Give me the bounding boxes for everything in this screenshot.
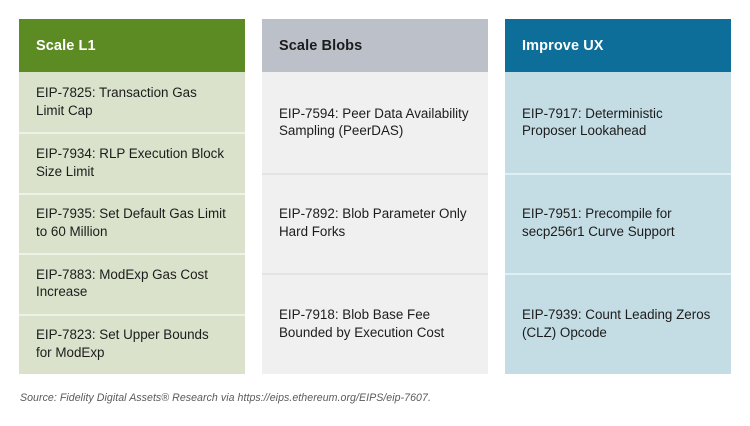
column-scale-blobs: Scale Blobs EIP-7594: Peer Data Availabi… [262, 19, 488, 374]
column-header-scale-blobs: Scale Blobs [262, 19, 488, 72]
eip-card: EIP-7594: Peer Data Availability Samplin… [262, 72, 488, 173]
eip-card: EIP-7935: Set Default Gas Limit to 60 Mi… [19, 193, 245, 253]
eip-card: EIP-7892: Blob Parameter Only Hard Forks [262, 173, 488, 274]
eip-card-label: EIP-7883: ModExp Gas Cost Increase [36, 266, 228, 302]
column-title: Scale Blobs [279, 38, 362, 54]
eip-card-label: EIP-7917: Deterministic Proposer Lookahe… [522, 105, 714, 141]
eip-card-label: EIP-7823: Set Upper Bounds for ModExp [36, 326, 228, 362]
eip-card: EIP-7825: Transaction Gas Limit Cap [19, 72, 245, 132]
eip-card-label: EIP-7935: Set Default Gas Limit to 60 Mi… [36, 205, 228, 241]
column-body-scale-l1: EIP-7825: Transaction Gas Limit Cap EIP-… [19, 72, 245, 374]
eip-card-label: EIP-7892: Blob Parameter Only Hard Forks [279, 205, 471, 241]
source-note: Source: Fidelity Digital Assets® Researc… [20, 392, 431, 404]
column-scale-l1: Scale L1 EIP-7825: Transaction Gas Limit… [19, 19, 245, 374]
eip-card-label: EIP-7934: RLP Execution Block Size Limit [36, 145, 228, 181]
eip-card: EIP-7883: ModExp Gas Cost Increase [19, 253, 245, 313]
eip-card: EIP-7917: Deterministic Proposer Lookahe… [505, 72, 731, 173]
column-body-scale-blobs: EIP-7594: Peer Data Availability Samplin… [262, 72, 488, 374]
eip-card-label: EIP-7825: Transaction Gas Limit Cap [36, 84, 228, 120]
column-header-improve-ux: Improve UX [505, 19, 731, 72]
eip-card-label: EIP-7951: Precompile for secp256r1 Curve… [522, 205, 714, 241]
columns-container: Scale L1 EIP-7825: Transaction Gas Limit… [19, 19, 731, 374]
column-body-improve-ux: EIP-7917: Deterministic Proposer Lookahe… [505, 72, 731, 374]
eip-card: EIP-7934: RLP Execution Block Size Limit [19, 132, 245, 192]
eip-card: EIP-7823: Set Upper Bounds for ModExp [19, 314, 245, 374]
eip-card: EIP-7939: Count Leading Zeros (CLZ) Opco… [505, 273, 731, 374]
column-header-scale-l1: Scale L1 [19, 19, 245, 72]
eip-card-label: EIP-7939: Count Leading Zeros (CLZ) Opco… [522, 306, 714, 342]
column-title: Improve UX [522, 38, 604, 54]
eip-roadmap-board: Scale L1 EIP-7825: Transaction Gas Limit… [0, 0, 750, 426]
column-improve-ux: Improve UX EIP-7917: Deterministic Propo… [505, 19, 731, 374]
eip-card-label: EIP-7594: Peer Data Availability Samplin… [279, 105, 471, 141]
eip-card-label: EIP-7918: Blob Base Fee Bounded by Execu… [279, 306, 471, 342]
eip-card: EIP-7918: Blob Base Fee Bounded by Execu… [262, 273, 488, 374]
column-title: Scale L1 [36, 38, 96, 54]
eip-card: EIP-7951: Precompile for secp256r1 Curve… [505, 173, 731, 274]
